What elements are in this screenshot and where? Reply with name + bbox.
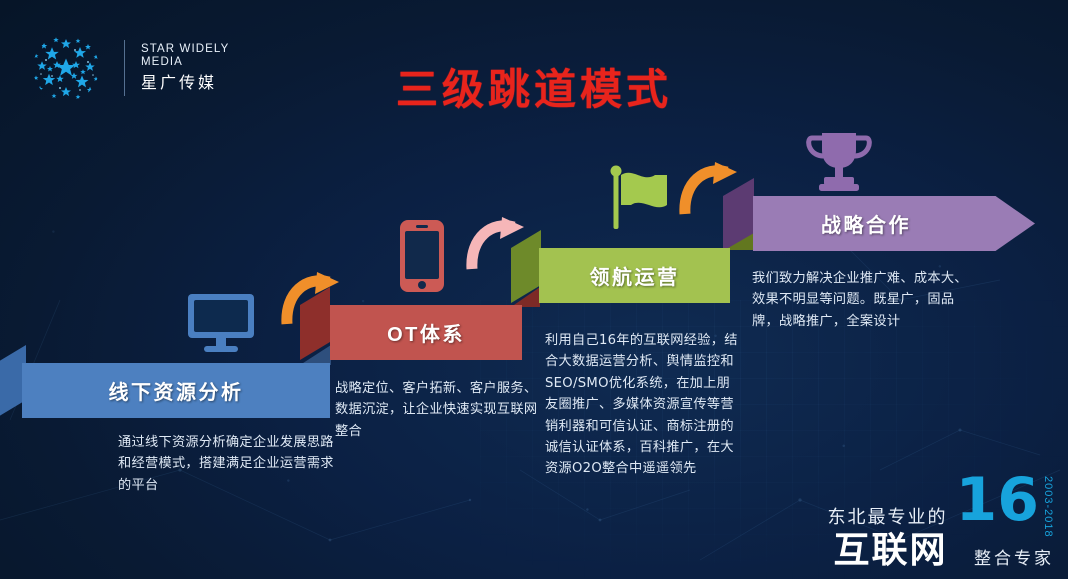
step-4-bar[interactable]: 战略合作 — [753, 196, 1035, 251]
badge-subtitle: 整合专家 — [974, 544, 1054, 569]
trophy-icon — [806, 130, 872, 192]
mobile-phone-icon — [399, 219, 445, 293]
step-2-description: 战略定位、客户拓新、客户服务、数据沉淀，让企业快速实现互联网整合 — [335, 378, 540, 442]
bottom-right-badge: 东北最专业的 互联网 16 2003-2018 整合专家 — [828, 476, 1055, 569]
badge-left-text: 东北最专业的 互联网 — [828, 503, 948, 569]
badge-number: 16 — [956, 476, 1040, 525]
step-3-label: 领航运营 — [590, 261, 680, 290]
badge-line-1: 东北最专业的 — [828, 503, 948, 529]
step-1-label: 线下资源分析 — [109, 376, 244, 405]
badge-number-group: 16 2003-2018 — [956, 476, 1055, 538]
badge-line-2: 互联网 — [828, 533, 948, 569]
badge-years: 2003-2018 — [1042, 476, 1054, 538]
step-3-description: 利用自己16年的互联网经验，结合大数据运营分析、舆情监控和SEO/SMO优化系统… — [545, 330, 743, 480]
page-title: 三级跳道模式 — [0, 56, 1068, 117]
flag-icon — [609, 165, 671, 231]
step-2-label: OT体系 — [387, 318, 465, 347]
step-1-description: 通过线下资源分析确定企业发展思路和经营模式，搭建满足企业运营需求的平台 — [118, 432, 336, 496]
monitor-icon — [186, 292, 256, 354]
step-4-description: 我们致力解决企业推广难、成本大、效果不明显等问题。既星广，固品牌，战略推广，全案… — [752, 268, 980, 332]
step-2-bar[interactable]: OT体系 — [330, 305, 522, 360]
step-1-bar[interactable]: 线下资源分析 — [22, 363, 330, 418]
step-3-bar[interactable]: 领航运营 — [539, 248, 730, 303]
step-4-label: 战略合作 — [821, 209, 911, 238]
badge-right-stack: 16 2003-2018 整合专家 — [956, 476, 1055, 569]
slide-canvas: STAR WIDELY MEDIA 星广传媒 三级跳道模式 — [0, 0, 1068, 579]
brand-name-en-line1: STAR WIDELY — [141, 43, 229, 56]
